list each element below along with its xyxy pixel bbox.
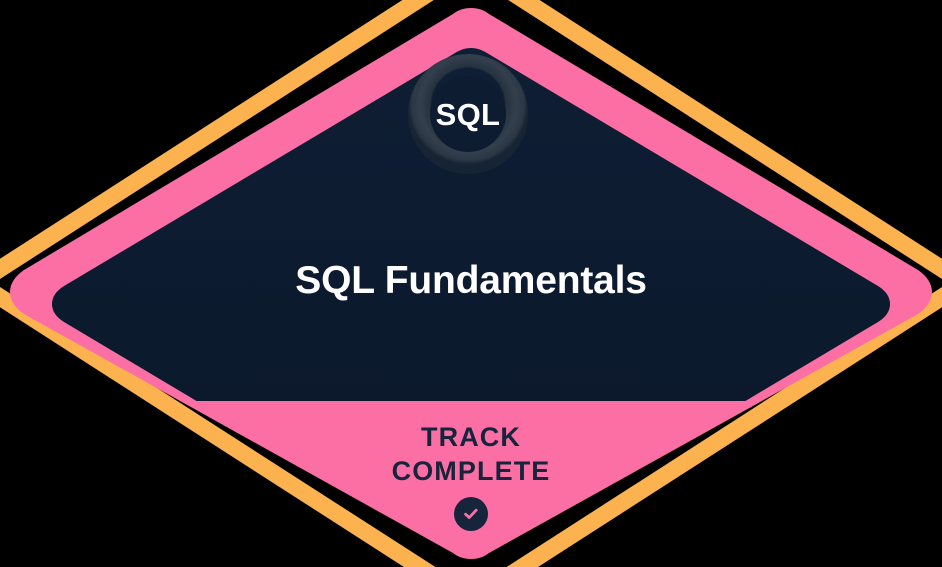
badge-graphic	[0, 0, 942, 567]
badge-stage: SQL SQL Fundamentals TRACK COMPLETE	[0, 0, 942, 567]
